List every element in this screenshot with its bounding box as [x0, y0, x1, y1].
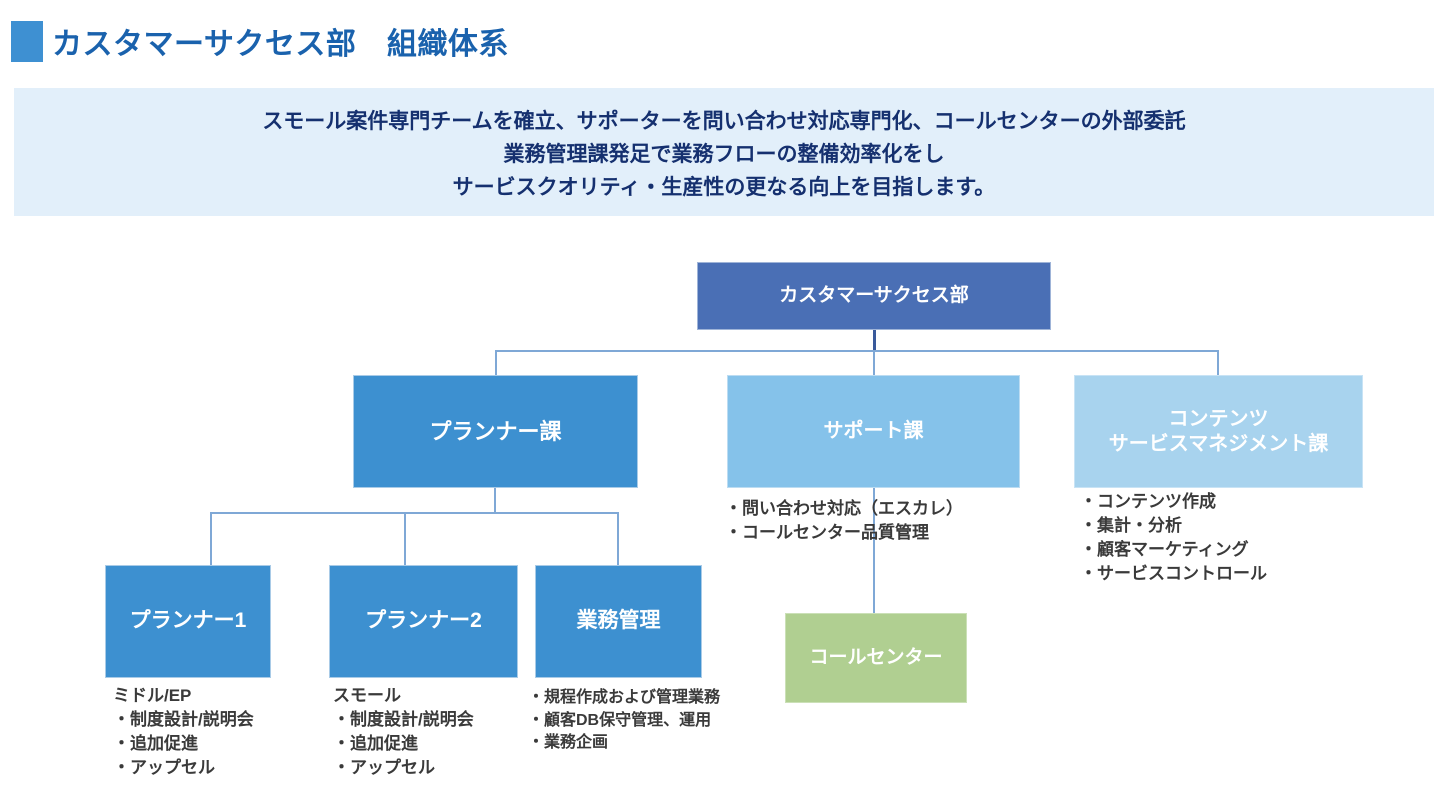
bullet-gyomu-3: ・業務企画: [528, 732, 720, 755]
connector-drop-support-div: [873, 350, 875, 375]
org-node-gyomu-kanri[interactable]: 業務管理: [535, 565, 702, 678]
bullet-content-3: ・顧客マーケティング: [1080, 538, 1267, 562]
bullet-planner1-3: ・追加促進: [113, 732, 254, 756]
org-chart: カスタマーサクセス部 プランナー課 サポート課 コンテンツ サービスマネジメント…: [0, 216, 1440, 812]
org-node-call-center[interactable]: コールセンター: [785, 613, 967, 703]
summary-banner-text: スモール案件専門チームを確立、サポーターを問い合わせ対応専門化、コールセンターの…: [14, 105, 1434, 204]
bullet-content-4: ・サービスコントロール: [1080, 562, 1267, 586]
bullet-gyomu-2: ・顧客DB保守管理、運用: [528, 710, 720, 733]
content-division-line1: コンテンツ: [1109, 407, 1328, 432]
banner-line-3: サービスクオリティ・生産性の更なる向上を目指します。: [14, 171, 1434, 204]
org-node-support-division[interactable]: サポート課: [727, 375, 1020, 488]
bullets-gyomu-kanri: ・規程作成および管理業務 ・顧客DB保守管理、運用 ・業務企画: [528, 687, 720, 755]
connector-drop-planner-div: [495, 350, 497, 375]
banner-line-2: 業務管理課発足で業務フローの整備効率化をし: [14, 138, 1434, 171]
connector-drop-content-div: [1217, 350, 1219, 375]
bullet-content-2: ・集計・分析: [1080, 514, 1267, 538]
bullet-support-1: ・問い合わせ対応（エスカレ）: [725, 497, 963, 521]
connector-planner-div-stem: [494, 488, 496, 512]
org-node-department[interactable]: カスタマーサクセス部: [697, 262, 1051, 330]
page-header: カスタマーサクセス部 組織体系: [0, 0, 1440, 84]
content-division-line2: サービスマネジメント課: [1109, 432, 1328, 457]
bullet-planner2-3: ・追加促進: [333, 732, 474, 756]
bullet-planner2-1: スモール: [333, 684, 474, 708]
org-node-planner2[interactable]: プランナー2: [329, 565, 518, 678]
connector-dept-stem: [873, 330, 876, 350]
bullet-planner1-4: ・アップセル: [113, 756, 254, 780]
connector-level1-bus: [495, 350, 1219, 352]
bullet-planner1-2: ・制度設計/説明会: [113, 708, 254, 732]
connector-drop-gyomu: [617, 512, 619, 565]
org-node-planner1[interactable]: プランナー1: [105, 565, 271, 678]
summary-banner: スモール案件専門チームを確立、サポーターを問い合わせ対応専門化、コールセンターの…: [14, 88, 1434, 216]
title-accent-square: [11, 21, 43, 62]
connector-level2-bus: [210, 512, 619, 514]
bullet-planner2-2: ・制度設計/説明会: [333, 708, 474, 732]
bullet-gyomu-1: ・規程作成および管理業務: [528, 687, 720, 710]
bullets-planner2: スモール ・制度設計/説明会 ・追加促進 ・アップセル: [333, 684, 474, 781]
org-node-content-division[interactable]: コンテンツ サービスマネジメント課: [1074, 375, 1363, 488]
bullets-planner1: ミドル/EP ・制度設計/説明会 ・追加促進 ・アップセル: [113, 684, 254, 781]
connector-drop-planner1: [210, 512, 212, 565]
connector-drop-planner2: [404, 512, 406, 565]
page-title: カスタマーサクセス部 組織体系: [52, 19, 509, 63]
banner-line-1: スモール案件専門チームを確立、サポーターを問い合わせ対応専門化、コールセンターの…: [14, 105, 1434, 138]
bullet-support-2: ・コールセンター品質管理: [725, 521, 963, 545]
bullets-content-division: ・コンテンツ作成 ・集計・分析 ・顧客マーケティング ・サービスコントロール: [1080, 490, 1267, 587]
bullet-content-1: ・コンテンツ作成: [1080, 490, 1267, 514]
bullet-planner1-1: ミドル/EP: [113, 684, 254, 708]
bullet-planner2-4: ・アップセル: [333, 756, 474, 780]
bullets-support-division: ・問い合わせ対応（エスカレ） ・コールセンター品質管理: [725, 497, 963, 545]
org-node-planner-division[interactable]: プランナー課: [353, 375, 638, 488]
